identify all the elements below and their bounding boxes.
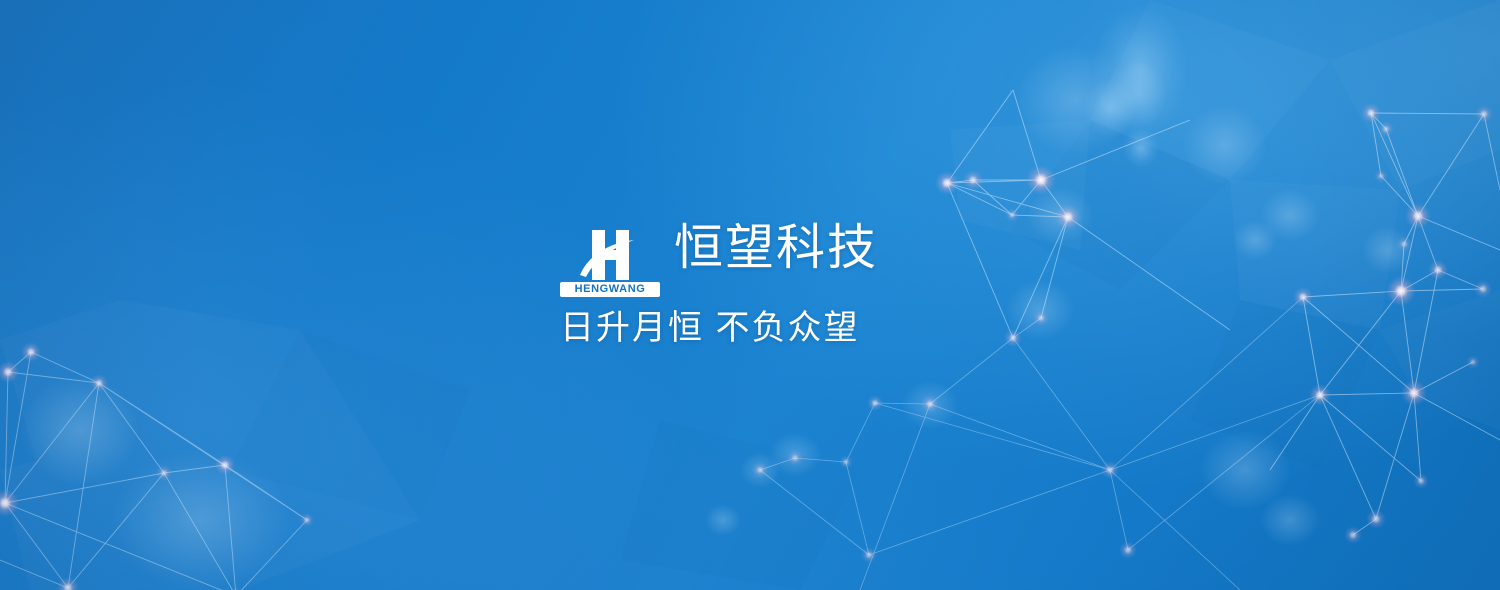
hengwang-h-swoosh-logo-icon: [560, 230, 660, 280]
logo-wordmark-text: HENGWANG: [575, 284, 646, 295]
company-name-title: 恒望科技: [674, 224, 878, 273]
company-slogan: 日升月恒 不负众望: [560, 311, 940, 345]
brand-lockup: HENGWANG 恒望科技 日升月恒 不负众望: [560, 224, 940, 345]
brand-title-row: HENGWANG 恒望科技: [560, 224, 940, 297]
logo-wordmark-bar: HENGWANG: [560, 282, 660, 297]
hero-banner: HENGWANG 恒望科技 日升月恒 不负众望: [0, 0, 1500, 590]
company-logo: HENGWANG: [560, 230, 660, 297]
